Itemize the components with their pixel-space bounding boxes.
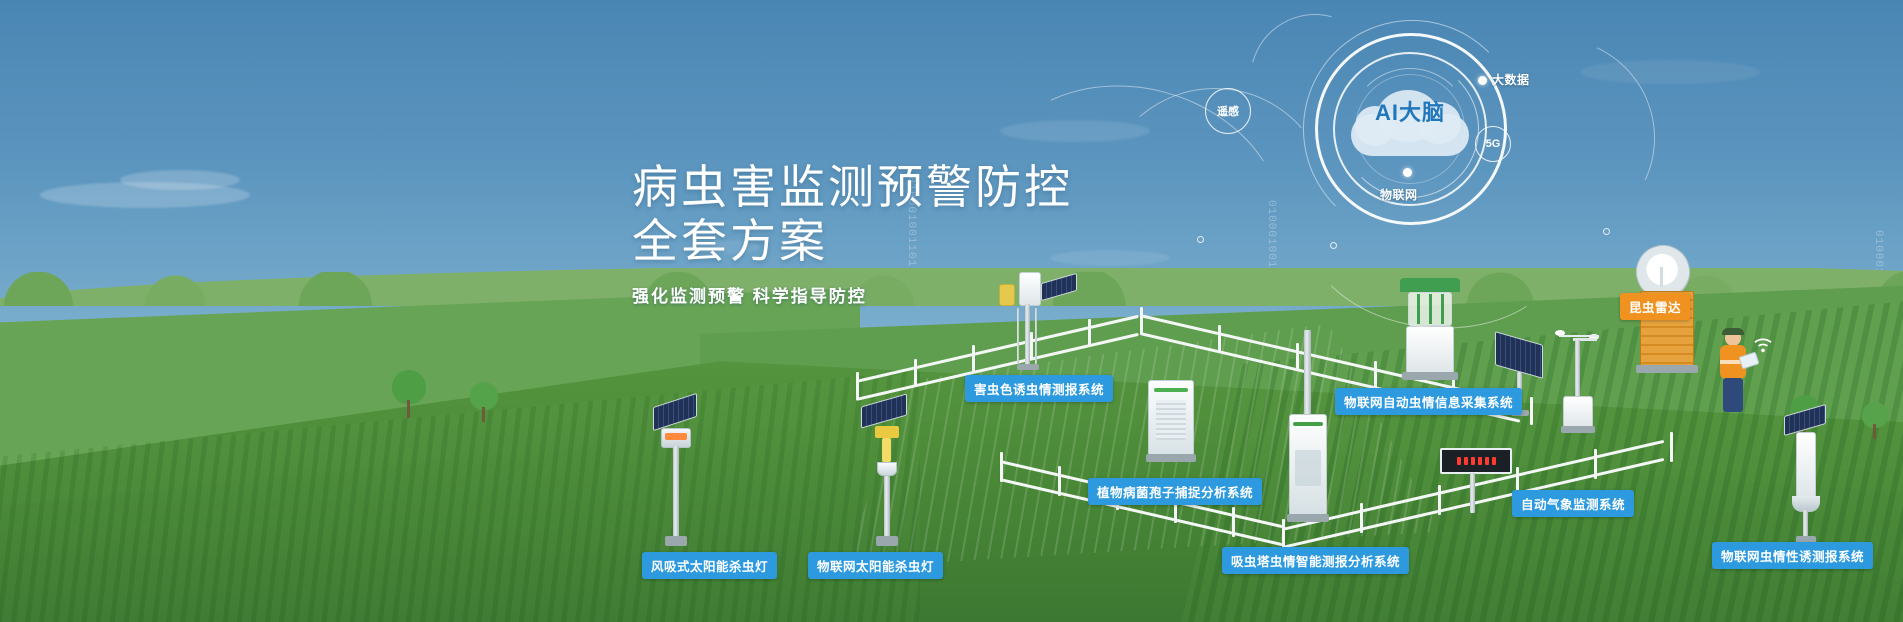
- ai-connector-endpoint-1: [1197, 236, 1204, 243]
- weather-mast: [1575, 340, 1580, 402]
- page-title-line-2: 全套方案: [632, 214, 1073, 268]
- label-auto-weather[interactable]: 自动气象监测系统: [1512, 490, 1634, 517]
- tree-trunk: [482, 407, 485, 422]
- anemometer-arm: [1559, 335, 1599, 337]
- device-base: [1017, 364, 1039, 370]
- label-insect-radar[interactable]: 昆虫雷达: [1620, 293, 1690, 320]
- lamp-pole: [884, 476, 890, 538]
- ai-node-remote-sensing[interactable]: 遥感: [1205, 88, 1251, 134]
- farmer-legs: [1723, 378, 1743, 412]
- tree-canopy: [392, 370, 426, 404]
- label-wind-suction-solar-lamp[interactable]: 风吸式太阳能杀虫灯: [642, 552, 777, 579]
- device-spore-capture: [1148, 380, 1204, 476]
- label-iot-solar-lamp[interactable]: 物联网太阳能杀虫灯: [808, 552, 943, 579]
- cloud-decor-2: [120, 170, 240, 190]
- fence-post: [1232, 507, 1235, 537]
- support-pole: [1025, 304, 1030, 366]
- hero-title-block: 病虫害监测预警防控 全套方案 强化监测预警 科学指导防控: [632, 160, 1073, 307]
- fence-post: [1058, 466, 1061, 496]
- ai-node-remote-sensing-label: 遥感: [1217, 103, 1239, 119]
- ai-node-big-data-label: 大数据: [1492, 71, 1530, 88]
- trap-pole: [1803, 510, 1808, 538]
- device-suction-tower: [1285, 330, 1335, 545]
- page-subtitle: 强化监测预警 科学指导防控: [632, 282, 1073, 307]
- fence-post: [1360, 503, 1363, 533]
- hero-banner: 010001001101110 01000100110111 010001001…: [0, 0, 1903, 622]
- lamp-base: [665, 536, 687, 546]
- tower-stripe: [1293, 422, 1323, 426]
- label-spore-capture[interactable]: 植物病菌孢子捕捉分析系统: [1088, 478, 1262, 505]
- device-wind-suction-solar-lamp: [645, 400, 715, 550]
- tree-decor-4: [1862, 402, 1888, 440]
- lamp-collect-cup: [877, 462, 897, 476]
- ladder-rail: [1017, 308, 1019, 364]
- fence-post: [1594, 449, 1597, 479]
- farmer-hat: [1722, 328, 1744, 335]
- led-board-pole: [1470, 473, 1475, 513]
- label-iot-pheromone-trap[interactable]: 物联网虫情性诱测报系统: [1712, 542, 1873, 569]
- fence-post: [972, 345, 975, 373]
- tree-trunk: [407, 400, 410, 418]
- label-suction-tower[interactable]: 吸虫塔虫情智能测报分析系统: [1222, 547, 1409, 574]
- ai-node-iot-label: 物联网: [1380, 186, 1418, 203]
- ai-connector-endpoint-2: [1330, 242, 1337, 249]
- tree-trunk: [1873, 424, 1876, 439]
- lamp-pole: [673, 446, 679, 538]
- ai-node-5g[interactable]: 5G: [1475, 126, 1511, 162]
- fence-post: [1374, 361, 1377, 389]
- lamp-glow: [665, 433, 687, 440]
- ai-node-iot-dot: [1403, 168, 1412, 177]
- device-iot-solar-lamp: [855, 400, 925, 550]
- fence-post: [1088, 319, 1091, 347]
- label-pest-color-trap[interactable]: 害虫色诱虫情测报系统: [965, 375, 1113, 402]
- cabinet-base: [1146, 454, 1196, 462]
- fence-post: [1438, 485, 1441, 515]
- radar-base: [1636, 365, 1698, 373]
- ai-brain-module: [1155, 28, 1575, 258]
- ai-node-big-data-dot: [1478, 76, 1487, 85]
- ai-node-5g-label: 5G: [1486, 138, 1501, 150]
- tower-base: [1287, 514, 1329, 522]
- device-iot-pheromone-trap: [1778, 410, 1848, 550]
- fence-post: [1670, 432, 1673, 462]
- fence-post: [914, 359, 917, 387]
- fence-post: [856, 372, 859, 400]
- weather-base: [1561, 426, 1595, 433]
- collector-base: [1402, 372, 1458, 380]
- tree-decor-1: [392, 370, 426, 418]
- label-iot-auto-pest-collect[interactable]: 物联网自动虫情信息采集系统: [1335, 388, 1522, 415]
- ai-core-label: AI大脑: [1345, 95, 1475, 127]
- lamp-funnel: [875, 426, 899, 438]
- trap-body: [1796, 432, 1816, 498]
- wifi-signal-icon: [1752, 336, 1774, 354]
- ai-connector-endpoint-3: [1603, 228, 1610, 235]
- tree-canopy: [470, 382, 498, 410]
- cabinet-stripe: [1154, 388, 1188, 392]
- ladder-rail: [1035, 308, 1037, 364]
- fence-post: [1000, 452, 1003, 482]
- collector-body: [1406, 326, 1454, 374]
- weather-cabinet: [1563, 396, 1593, 428]
- farmer-figure: [1710, 330, 1758, 422]
- tree-decor-2: [470, 382, 498, 422]
- fence-post: [1218, 325, 1221, 353]
- page-title-line-1: 病虫害监测预警防控: [632, 160, 1073, 214]
- lamp-base: [876, 536, 898, 546]
- tower-hatch: [1295, 450, 1321, 486]
- radar-feed-arm: [1660, 267, 1663, 287]
- cabinet-vent: [1156, 400, 1186, 440]
- lamp-tube: [882, 438, 891, 462]
- tower-mast: [1304, 330, 1311, 416]
